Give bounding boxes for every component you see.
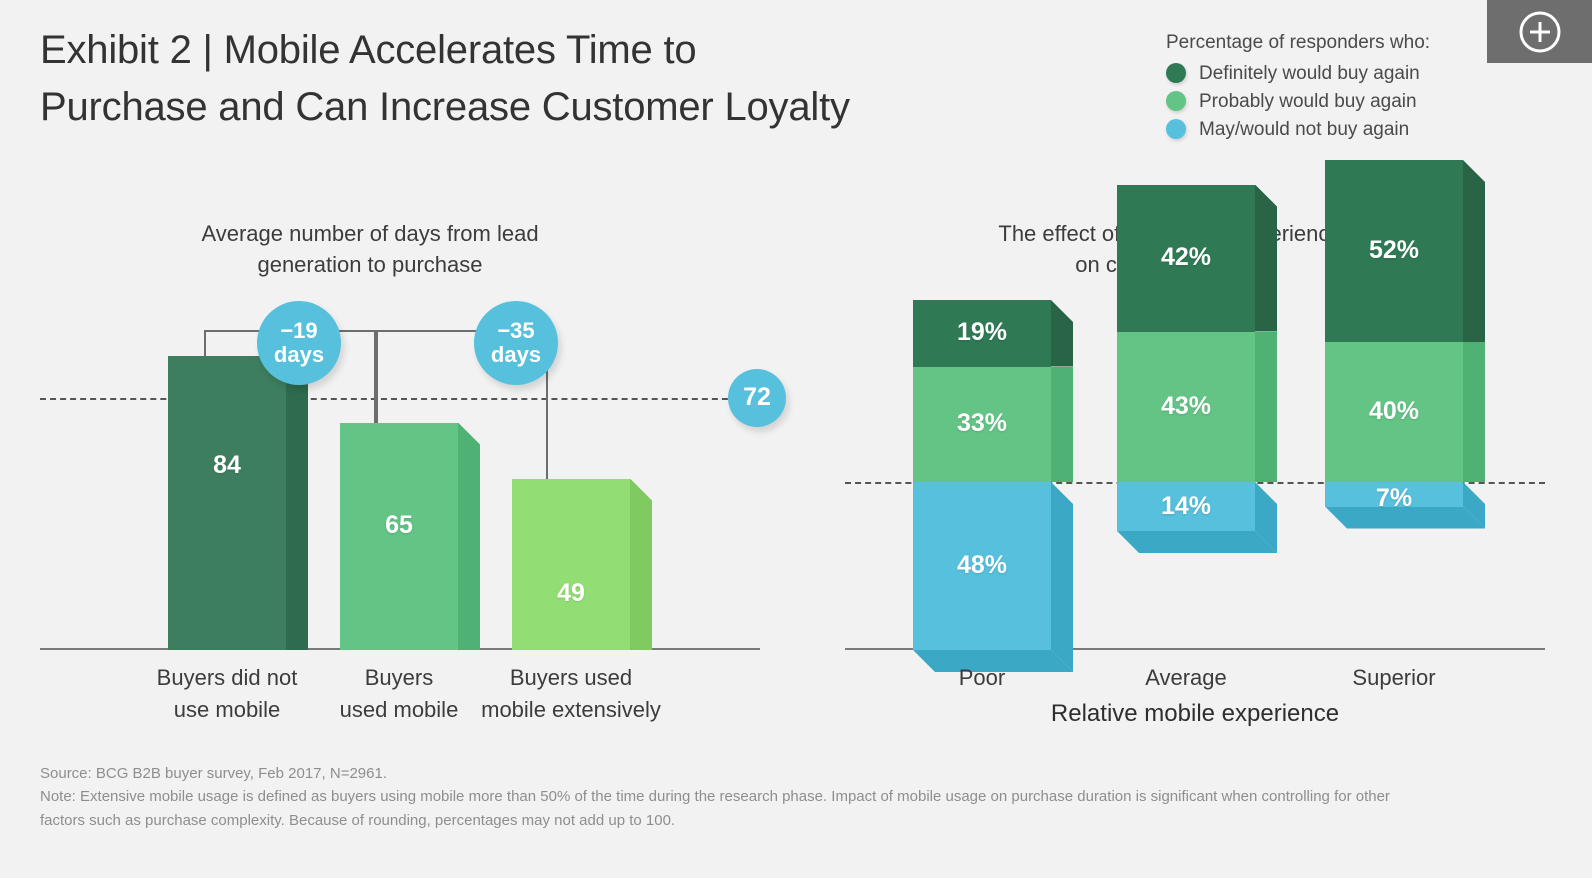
category-label-superior: Superior (1274, 662, 1514, 694)
bar-segment-label-maynot: 7% (1325, 484, 1463, 513)
left-chart-title-line1: Average number of days from lead (201, 221, 538, 246)
bar-side-face-maynot (1051, 482, 1073, 672)
callout-line2: days (491, 343, 541, 367)
exhibit-root: Exhibit 2 | Mobile Accelerates Time to P… (0, 0, 1592, 878)
reference-value-badge: 72 (728, 369, 786, 427)
legend-item-definitely[interactable]: Definitely would buy again (1166, 63, 1496, 83)
bar-side-face-probably (1463, 342, 1485, 482)
stacked-bar-poor: 19%33%48% (913, 300, 1051, 650)
page-title-line2: Purchase and Can Increase Customer Loyal… (40, 85, 850, 129)
delta-callout-19: −19days (257, 301, 341, 385)
bracket-tick-left (376, 330, 378, 423)
legend-swatch-probably (1166, 91, 1186, 111)
right-chart-xlabel: Relative mobile experience (845, 700, 1545, 728)
callout-line1: −35 (497, 319, 534, 343)
bar-segment-maynot: 14% (1117, 482, 1255, 531)
right-chart-plot: 19%33%48%42%43%14%52%40%7% (845, 300, 1545, 650)
bar-front-face (168, 356, 286, 650)
bar-side-face-definitely (1051, 300, 1073, 367)
bar-side-face (286, 356, 308, 650)
bar-segment-definitely: 52% (1325, 160, 1463, 342)
legend-label-probably: Probably would buy again (1199, 92, 1417, 111)
bar-segment-probably: 40% (1325, 342, 1463, 482)
bar-side-face-definitely (1463, 160, 1485, 342)
bar-segment-label-definitely: 19% (913, 318, 1051, 347)
page-title-line1: Exhibit 2 | Mobile Accelerates Time to (40, 28, 696, 72)
left-chart-reference-line (40, 398, 768, 400)
legend-item-maynot[interactable]: May/would not buy again (1166, 119, 1496, 139)
bar-segment-probably: 33% (913, 367, 1051, 483)
legend-title: Percentage of responders who: (1166, 32, 1496, 54)
legend-label-definitely: Definitely would buy again (1199, 64, 1420, 83)
bar-segment-definitely: 42% (1117, 185, 1255, 332)
bar-segment-maynot: 48% (913, 482, 1051, 650)
delta-callout-35: −35days (474, 301, 558, 385)
bar-segment-label-maynot: 48% (913, 551, 1051, 580)
bar-segment-maynot: 7% (1325, 482, 1463, 507)
category-label-2: Buyers used mobile extensively (441, 662, 701, 726)
footnotes: Source: BCG B2B buyer survey, Feb 2017, … (40, 762, 1510, 832)
legend-swatch-maynot (1166, 119, 1186, 139)
category-label-average: Average (1066, 662, 1306, 694)
callout-line1: −19 (280, 319, 317, 343)
callout-line2: days (274, 343, 324, 367)
plus-circle-icon (1517, 9, 1563, 55)
left-chart-title-line2: generation to purchase (257, 252, 482, 277)
bar-buyers-did-not-use-mobile: 84 (168, 356, 286, 650)
bar-value-label: 49 (512, 579, 630, 608)
legend-swatch-definitely (1166, 63, 1186, 83)
bar-side-face (630, 479, 652, 651)
footnote-source: Source: BCG B2B buyer survey, Feb 2017, … (40, 762, 1510, 785)
bar-side-face-probably (1255, 332, 1277, 483)
footnote-note-line1: Note: Extensive mobile usage is defined … (40, 785, 1510, 808)
bar-segment-label-definitely: 42% (1117, 243, 1255, 272)
bar-segment-probably: 43% (1117, 332, 1255, 483)
bar-value-label: 84 (168, 451, 286, 480)
footnote-note-line2: factors such as purchase complexity. Bec… (40, 809, 1510, 832)
bar-side-face-definitely (1255, 185, 1277, 332)
bar-buyers-used-mobile-extensively: 49 (512, 479, 630, 651)
bar-buyers-used-mobile: 65 (340, 423, 458, 651)
legend-label-maynot: May/would not buy again (1199, 120, 1409, 139)
bar-segment-label-probably: 33% (913, 409, 1051, 438)
page-title: Exhibit 2 | Mobile Accelerates Time to P… (40, 22, 1120, 136)
stacked-bar-average: 42%43%14% (1117, 185, 1255, 532)
left-chart-title: Average number of days from lead generat… (40, 218, 700, 280)
expand-button[interactable] (1487, 0, 1592, 63)
bar-segment-label-probably: 40% (1325, 397, 1463, 426)
left-chart-plot: 846549 (40, 300, 760, 650)
bar-segment-label-definitely: 52% (1325, 236, 1463, 265)
legend: Percentage of responders who: Definitely… (1166, 32, 1496, 147)
bar-segment-label-maynot: 14% (1117, 492, 1255, 521)
legend-item-probably[interactable]: Probably would buy again (1166, 91, 1496, 111)
bar-value-label: 65 (340, 511, 458, 540)
bar-side-face-probably (1051, 367, 1073, 483)
bar-segment-label-probably: 43% (1117, 392, 1255, 421)
bar-segment-definitely: 19% (913, 300, 1051, 367)
bracket-tick-left (204, 330, 206, 356)
bar-bottom-face-maynot (1117, 531, 1277, 553)
bar-side-face (458, 423, 480, 651)
bar-front-face (512, 479, 630, 651)
stacked-bar-superior: 52%40%7% (1325, 160, 1463, 507)
